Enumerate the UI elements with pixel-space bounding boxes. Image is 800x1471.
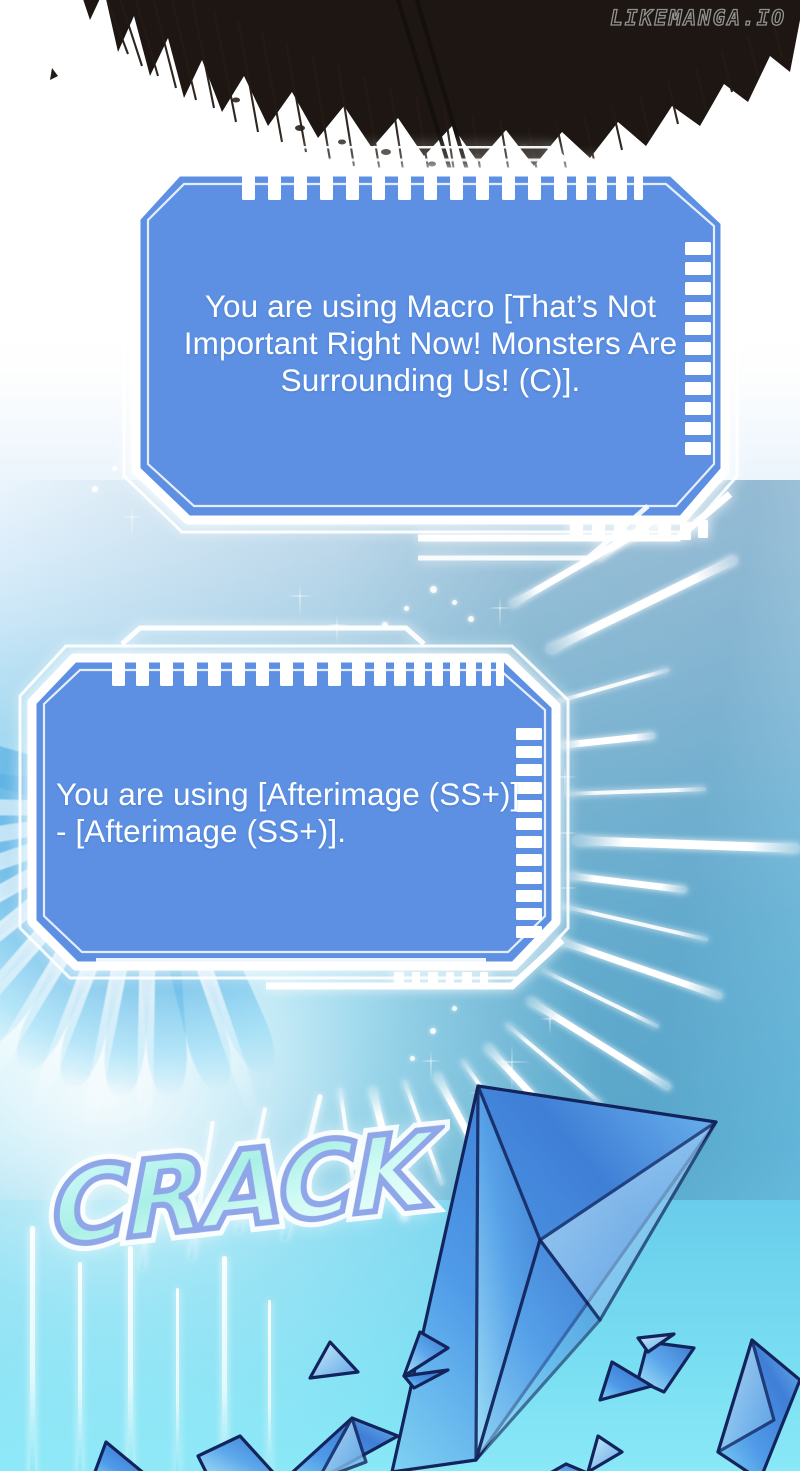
site-watermark: LIKEMANGA.IO: [610, 6, 786, 30]
dialog-text: You are using Macro [That’s Not Importan…: [164, 288, 697, 399]
system-dialog-macro[interactable]: You are using Macro [That’s Not Importan…: [118, 146, 743, 576]
webtoon-panel: You are using Macro [That’s Not Importan…: [0, 0, 800, 1471]
dialog-text: You are using [Afterimage (SS+)] - [Afte…: [56, 776, 526, 850]
system-dialog-afterimage[interactable]: You are using [Afterimage (SS+)] - [Afte…: [16, 622, 576, 1012]
